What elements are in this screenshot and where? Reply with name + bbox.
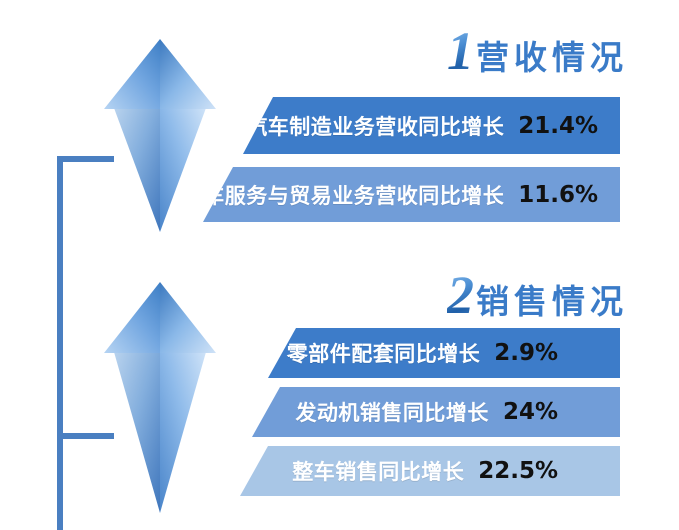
section-2-heading: 2 销售情况 (447, 268, 628, 322)
banner-auto-manufacturing-revenue[interactable]: 汽车制造业务营收同比增长 21.4% (243, 97, 620, 154)
section-2-title: 销售情况 (476, 285, 628, 318)
banner-value: 24% (503, 399, 620, 425)
upward-arrow-revenue (100, 35, 220, 235)
banner-engine-sales[interactable]: 发动机销售同比增长 24% (252, 387, 620, 437)
banner-label: 零部件配套同比增长 (287, 338, 495, 368)
banner-label: 整车销售同比增长 (292, 456, 478, 486)
section-1-number: 1 (447, 24, 476, 78)
section-1-title: 营收情况 (476, 41, 628, 74)
banner-label: 发动机销售同比增长 (295, 397, 503, 427)
banner-value: 2.9% (494, 340, 620, 366)
banner-value: 11.6% (518, 182, 620, 208)
banner-vehicle-sales[interactable]: 整车销售同比增长 22.5% (240, 446, 620, 496)
upward-arrow-sales (100, 277, 220, 517)
banner-parts-supply[interactable]: 零部件配套同比增长 2.9% (268, 328, 620, 378)
section-2-number: 2 (447, 268, 476, 322)
section-1-heading: 1 营收情况 (447, 24, 628, 78)
banner-value: 22.5% (478, 458, 620, 484)
infographic-canvas: 1 营收情况 汽车制造业务营收同比增长 21.4% 汽车服务与贸易业务营收同比增… (0, 0, 679, 530)
banner-auto-service-trade-revenue[interactable]: 汽车服务与贸易业务营收同比增长 11.6% (203, 167, 620, 222)
banner-value: 21.4% (518, 113, 620, 139)
banner-label: 汽车制造业务营收同比增长 (246, 111, 518, 141)
bracket-rail-vertical (57, 156, 63, 530)
banner-label: 汽车服务与贸易业务营收同比增长 (182, 180, 519, 210)
